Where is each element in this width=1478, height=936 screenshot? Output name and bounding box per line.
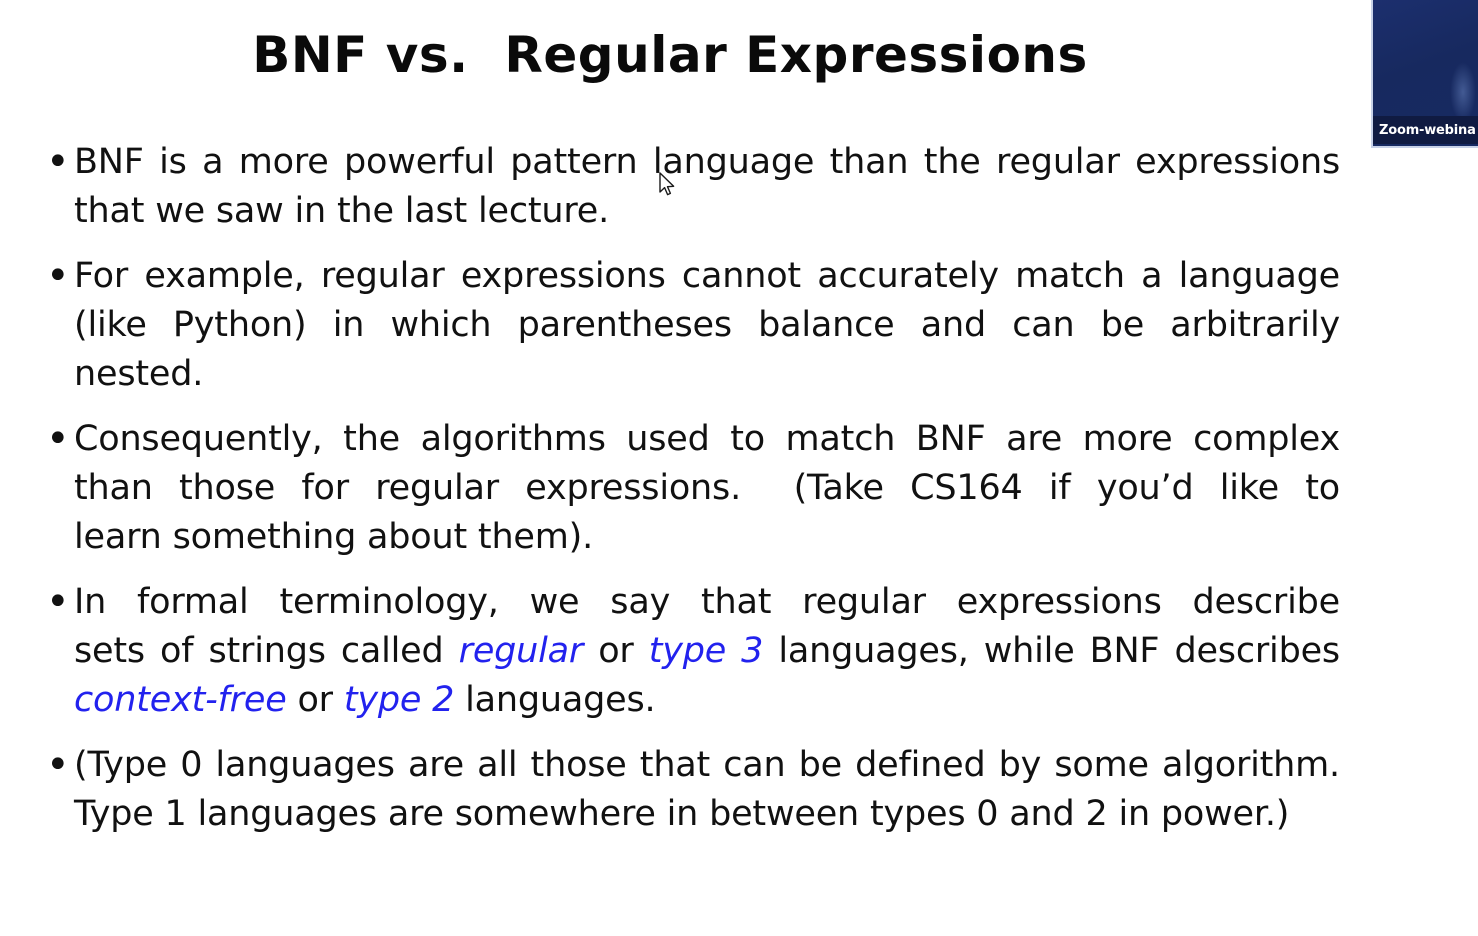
bullet-item: •Consequently, the algorithms used to ma…	[40, 415, 1340, 562]
text-run: than those for regular expressions. (Tak…	[74, 468, 1340, 508]
highlighted-term: type 3	[649, 631, 764, 671]
bullet-line: nested.	[74, 350, 1340, 399]
bullet-line: (Type 0 languages are all those that can…	[74, 741, 1340, 790]
bullet-line: For example, regular expressions cannot …	[74, 252, 1340, 301]
bullet-line: context-free or type 2 languages.	[74, 676, 1340, 725]
text-run: languages.	[454, 680, 655, 720]
text-run: BNF is a more powerful pattern language …	[74, 142, 1340, 182]
bullet-line: learn something about them).	[74, 513, 1340, 562]
bullet-marker-icon: •	[40, 578, 74, 627]
webcam-participant-name: Zoom-webina	[1373, 123, 1476, 138]
bullet-marker-icon: •	[40, 252, 74, 301]
text-run: sets of strings called	[74, 631, 459, 671]
webcam-video-glow	[1450, 62, 1476, 122]
webcam-label-strip: Zoom-webina	[1373, 116, 1478, 144]
text-run: that we saw in the last lecture.	[74, 191, 609, 231]
bullet-text: BNF is a more powerful pattern language …	[74, 138, 1340, 236]
zoom-webcam-thumbnail[interactable]: Zoom-webina	[1371, 0, 1478, 148]
text-run: In formal terminology, we say that regul…	[74, 582, 1340, 622]
bullet-text: Consequently, the algorithms used to mat…	[74, 415, 1340, 562]
bullet-item: •For example, regular expressions cannot…	[40, 252, 1340, 399]
bullet-marker-icon: •	[40, 415, 74, 464]
text-run: (like Python) in which parentheses balan…	[74, 305, 1340, 345]
bullet-line: BNF is a more powerful pattern language …	[74, 138, 1340, 187]
bullet-line: that we saw in the last lecture.	[74, 187, 1340, 236]
bullet-item: •(Type 0 languages are all those that ca…	[40, 741, 1340, 839]
bullet-line: Type 1 languages are somewhere in betwee…	[74, 790, 1340, 839]
bullet-marker-icon: •	[40, 138, 74, 187]
text-run: learn something about them).	[74, 517, 593, 557]
highlighted-term: regular	[459, 631, 583, 671]
bullet-line: than those for regular expressions. (Tak…	[74, 464, 1340, 513]
bullet-marker-icon: •	[40, 741, 74, 790]
bullet-item: •BNF is a more powerful pattern language…	[40, 138, 1340, 236]
bullet-line: Consequently, the algorithms used to mat…	[74, 415, 1340, 464]
bullet-line: (like Python) in which parentheses balan…	[74, 301, 1340, 350]
page-title: BNF vs. Regular Expressions	[0, 28, 1340, 83]
bullet-line: sets of strings called regular or type 3…	[74, 627, 1340, 676]
text-run: Consequently, the algorithms used to mat…	[74, 419, 1340, 459]
bullet-text: For example, regular expressions cannot …	[74, 252, 1340, 399]
text-run: or	[583, 631, 649, 671]
bullet-list: •BNF is a more powerful pattern language…	[40, 138, 1340, 855]
text-run: or	[287, 680, 344, 720]
bullet-text: In formal terminology, we say that regul…	[74, 578, 1340, 725]
bullet-text: (Type 0 languages are all those that can…	[74, 741, 1340, 839]
text-run: Type 1 languages are somewhere in betwee…	[74, 794, 1289, 834]
bullet-line: In formal terminology, we say that regul…	[74, 578, 1340, 627]
text-run: For example, regular expressions cannot …	[74, 256, 1340, 296]
text-run: (Type 0 languages are all those that can…	[74, 745, 1340, 785]
slide-canvas: BNF vs. Regular Expressions •BNF is a mo…	[0, 0, 1478, 936]
text-run: languages, while BNF describes	[763, 631, 1340, 671]
text-run: nested.	[74, 354, 203, 394]
bullet-item: •In formal terminology, we say that regu…	[40, 578, 1340, 725]
highlighted-term: context-free	[74, 680, 287, 720]
highlighted-term: type 2	[344, 680, 454, 720]
